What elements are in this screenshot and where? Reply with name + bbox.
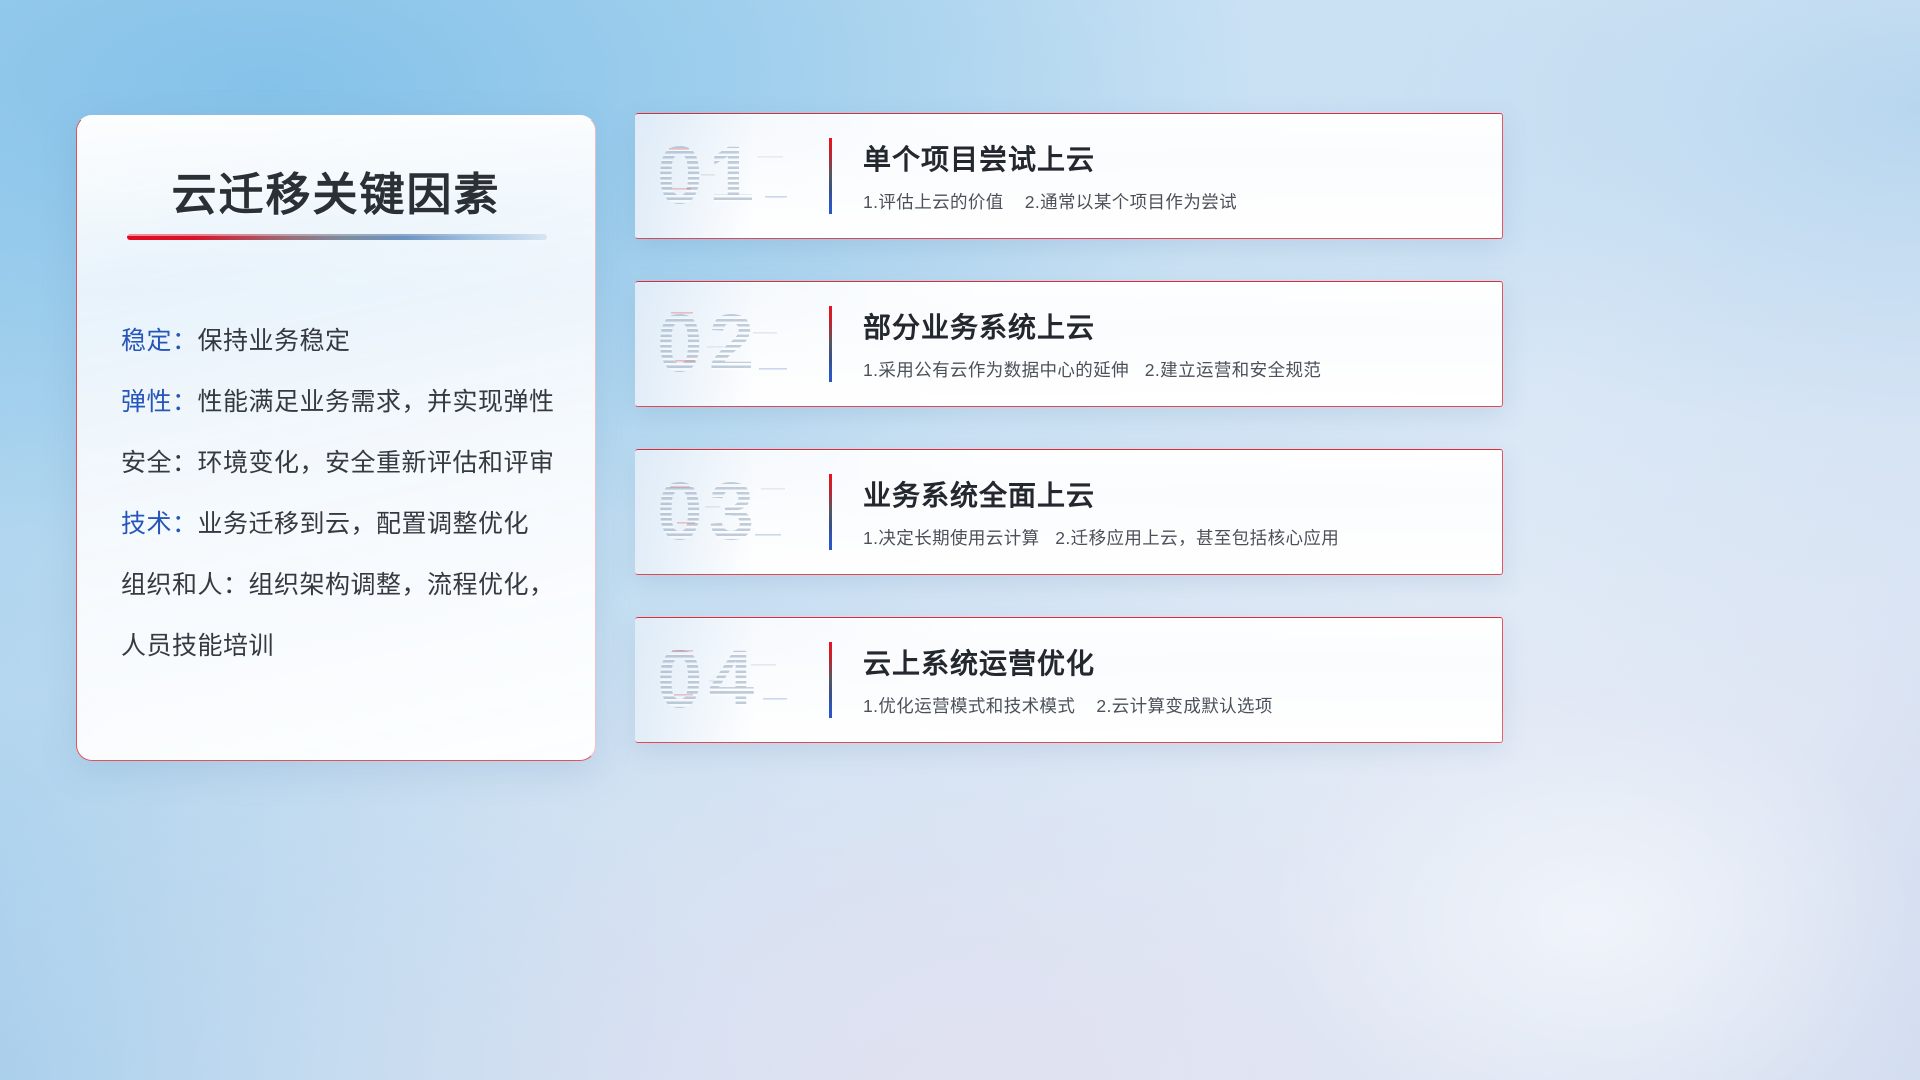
step-card[interactable]: 03 业务系统全面上云 1.决定长期使用云计算 2.迁移应用上云，甚至包括核心应… [635, 449, 1503, 575]
factor-desc: 组织架构调整，流程优化， [249, 571, 555, 599]
factor-label: 稳定： [121, 327, 198, 355]
factor-row: 弹性：性能满足业务需求，并实现弹性 [121, 372, 567, 433]
step-number-watermark: 01 [657, 135, 760, 217]
factor-row: 组织和人：组织架构调整，流程优化， [121, 555, 567, 616]
step-divider-bar [829, 474, 832, 550]
factor-desc: 性能满足业务需求，并实现弹性 [198, 388, 555, 416]
step-title: 单个项目尝试上云 [863, 138, 1478, 178]
page-title: 云迁移关键因素 [77, 158, 595, 223]
step-card[interactable]: 02 部分业务系统上云 1.采用公有云作为数据中心的延伸 2.建立运营和安全规范 [635, 281, 1503, 407]
step-title: 部分业务系统上云 [863, 306, 1478, 346]
step-divider-bar [829, 306, 832, 382]
factor-desc: 保持业务稳定 [198, 327, 351, 355]
factor-label: 安全： [121, 449, 198, 477]
slide-canvas: 云迁移关键因素 稳定：保持业务稳定 弹性：性能满足业务需求，并实现弹性 安全：环… [0, 0, 1920, 1080]
step-number-watermark: 03 [657, 471, 760, 553]
factor-desc: 业务迁移到云，配置调整优化 [198, 510, 530, 538]
factor-label: 弹性： [121, 388, 198, 416]
title-underline-rule [127, 234, 547, 240]
step-description: 1.优化运营模式和技术模式 2.云计算变成默认选项 [863, 693, 1478, 718]
factor-desc: 环境变化，安全重新评估和评审 [198, 449, 555, 477]
step-divider-bar [829, 138, 832, 214]
factor-row: 稳定：保持业务稳定 [121, 311, 567, 372]
factor-desc: 人员技能培训 [121, 632, 274, 660]
step-text-block: 部分业务系统上云 1.采用公有云作为数据中心的延伸 2.建立运营和安全规范 [863, 306, 1478, 382]
factor-row: 安全：环境变化，安全重新评估和评审 [121, 433, 567, 494]
migration-steps-list: 01 单个项目尝试上云 1.评估上云的价值 2.通常以某个项目作为尝试 02 [635, 113, 1503, 785]
step-description: 1.评估上云的价值 2.通常以某个项目作为尝试 [863, 189, 1478, 214]
factor-label: 技术： [121, 510, 198, 538]
step-number-watermark: 02 [657, 303, 760, 385]
factor-label: 组织和人： [121, 571, 249, 599]
step-description: 1.采用公有云作为数据中心的延伸 2.建立运营和安全规范 [863, 357, 1478, 382]
step-text-block: 业务系统全面上云 1.决定长期使用云计算 2.迁移应用上云，甚至包括核心应用 [863, 474, 1478, 550]
step-card[interactable]: 01 单个项目尝试上云 1.评估上云的价值 2.通常以某个项目作为尝试 [635, 113, 1503, 239]
step-number-watermark: 04 [657, 639, 760, 721]
step-card[interactable]: 04 云上系统运营优化 1.优化运营模式和技术模式 2.云计算变成默认选项 [635, 617, 1503, 743]
step-title: 业务系统全面上云 [863, 474, 1478, 514]
step-divider-bar [829, 642, 832, 718]
factor-list: 稳定：保持业务稳定 弹性：性能满足业务需求，并实现弹性 安全：环境变化，安全重新… [121, 311, 567, 677]
step-title: 云上系统运营优化 [863, 642, 1478, 682]
step-text-block: 单个项目尝试上云 1.评估上云的价值 2.通常以某个项目作为尝试 [863, 138, 1478, 214]
factor-row: 技术：业务迁移到云，配置调整优化 [121, 494, 567, 555]
key-factors-panel: 云迁移关键因素 稳定：保持业务稳定 弹性：性能满足业务需求，并实现弹性 安全：环… [76, 115, 596, 761]
step-description: 1.决定长期使用云计算 2.迁移应用上云，甚至包括核心应用 [863, 525, 1478, 550]
step-text-block: 云上系统运营优化 1.优化运营模式和技术模式 2.云计算变成默认选项 [863, 642, 1478, 718]
factor-row-continuation: 人员技能培训 [121, 616, 567, 677]
